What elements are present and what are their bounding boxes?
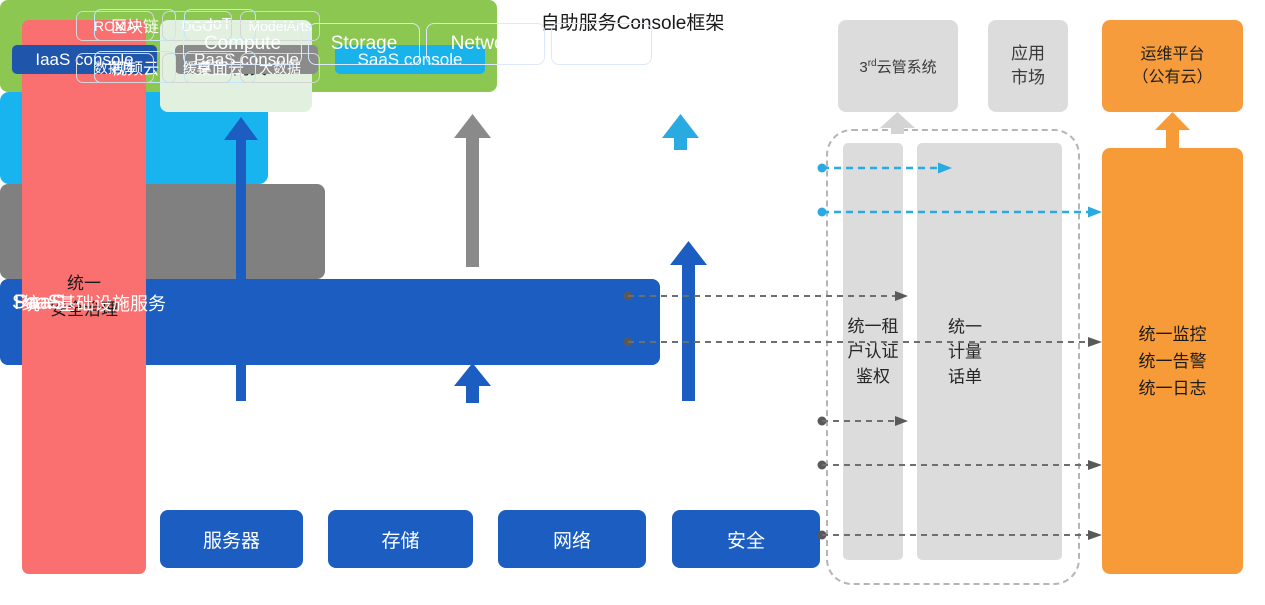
auth-col-line3: 鉴权 <box>848 364 899 389</box>
bottom-box-storage-label: 存储 <box>381 526 419 553</box>
ops-platform-box: 运维平台 （公有云） <box>1102 20 1243 112</box>
paas-chip-database-label: 数据库 <box>94 58 136 78</box>
paas-chip-roma[interactable]: ROMA <box>76 11 154 41</box>
infra-chip-storage[interactable]: Storage <box>308 23 420 65</box>
infra-chip-compute[interactable]: Compute <box>183 23 302 65</box>
arrow-pillar-to-ops-platform <box>1155 112 1190 148</box>
arrow-paas-to-console <box>454 114 491 267</box>
third-cloud-label: 3rd云管系统 <box>859 56 936 77</box>
app-market-line2: 市场 <box>1011 66 1045 90</box>
ops-pillar-line1: 统一监控 <box>1139 321 1207 348</box>
infra-chip-network[interactable]: Network <box>426 23 545 65</box>
unified-ops-pillar: 统一监控 统一告警 统一日志 <box>1102 148 1243 574</box>
app-market-box: 应用 市场 <box>988 20 1068 112</box>
infra-chip-compute-label: Compute <box>204 33 281 55</box>
ops-pillar-line2: 统一告警 <box>1139 348 1207 375</box>
meter-col-line1: 统一 <box>935 314 995 339</box>
arrow-infra-to-paas <box>454 363 491 403</box>
meter-col-line2: 计量 <box>935 339 995 364</box>
bottom-box-server-label: 服务器 <box>203 526 260 553</box>
third-party-cloud-management-box: 3rd云管系统 <box>838 20 958 112</box>
bottom-box-server: 服务器 <box>160 510 303 568</box>
infra-chip-cce-label: CCE <box>581 33 621 55</box>
app-market-line1: 应用 <box>1011 42 1045 66</box>
third-cloud-superscript: rd <box>868 58 877 69</box>
bottom-box-security: 安全 <box>672 510 820 568</box>
bottom-box-storage: 存储 <box>328 510 473 568</box>
infra-chip-cce[interactable]: CCE <box>551 23 652 65</box>
bottom-box-security-label: 安全 <box>727 526 765 553</box>
bottom-box-network-label: 网络 <box>553 526 591 553</box>
ops-platform-line1: 运维平台 <box>1132 43 1212 66</box>
meter-col-line3: 话单 <box>935 364 995 389</box>
third-cloud-prefix: 3 <box>859 59 867 76</box>
third-cloud-suffix: 云管系统 <box>877 59 937 76</box>
ops-platform-line2: （公有云） <box>1132 66 1212 89</box>
paas-chip-database[interactable]: 数据库 <box>76 53 154 83</box>
infrastructure-label: 统一基础设施服务 <box>22 290 166 316</box>
arrow-infra-to-saas <box>670 241 707 401</box>
auth-col-line2: 户认证 <box>848 339 899 364</box>
ops-pillar-line3: 统一日志 <box>1139 375 1207 402</box>
infra-chip-storage-label: Storage <box>331 33 398 55</box>
paas-chip-roma-label: ROMA <box>94 18 136 34</box>
unified-metering-billing-column: 统一 计量 话单 <box>917 143 1062 560</box>
architecture-diagram: 统一 安全治理 API网关 自助服务Console框架 IaaS console… <box>0 0 1265 605</box>
auth-col-line1: 统一租 <box>848 314 899 339</box>
unified-tenant-auth-column: 统一租 户认证 鉴权 <box>843 143 903 560</box>
arrow-saas-to-saas-console <box>662 114 699 150</box>
bottom-box-network: 网络 <box>498 510 646 568</box>
infra-chip-network-label: Network <box>451 33 521 55</box>
